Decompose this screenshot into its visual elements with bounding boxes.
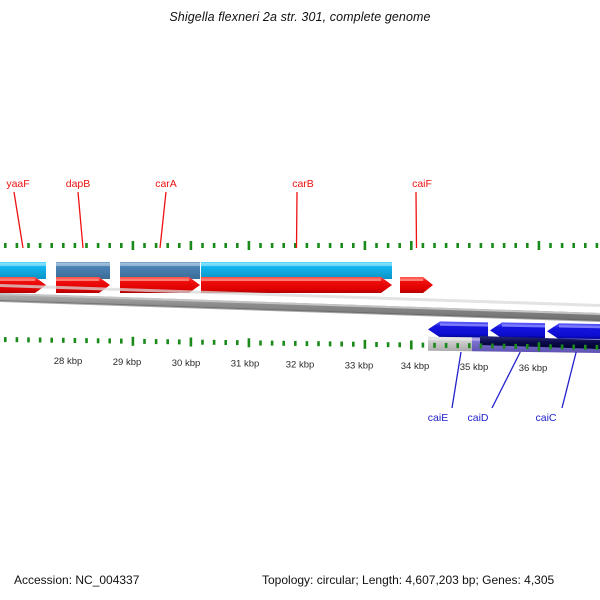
tick-mark-icon — [422, 343, 425, 348]
gene-label-dapB[interactable]: dapB — [66, 178, 91, 248]
genome-viewer[interactable]: Shigella flexneri 2a str. 301, complete … — [0, 0, 600, 600]
axis-tick-label-3: 31 kbp — [231, 359, 260, 370]
tick-mark-icon — [306, 243, 309, 248]
tick-mark-icon — [480, 343, 483, 348]
tick-mark-icon — [27, 243, 30, 248]
tick-mark-icon — [317, 243, 320, 248]
gene-leader-line — [297, 192, 298, 248]
tick-mark-icon — [514, 243, 517, 248]
cds-highlight — [0, 279, 35, 282]
tick-mark-icon — [445, 343, 448, 348]
cds-feature-caiC[interactable] — [547, 323, 600, 340]
tick-mark-icon — [259, 341, 262, 346]
tick-mark-icon — [456, 243, 459, 248]
tick-mark-icon — [329, 243, 332, 248]
tick-mark-icon — [190, 241, 193, 250]
tick-mark-icon — [143, 339, 146, 344]
axis-tick-label-6: 34 kbp — [401, 361, 430, 372]
tick-mark-icon — [155, 243, 158, 248]
tick-mark-icon — [526, 344, 529, 349]
gene-leader-line — [78, 192, 83, 248]
accession-text: Accession: NC_004337 — [14, 573, 139, 587]
axis-tick-label-2: 30 kbp — [172, 358, 201, 369]
genome-stats-text: Topology: circular; Length: 4,607,203 bp… — [262, 573, 554, 587]
tick-mark-icon — [398, 342, 401, 347]
gene-label-yaaF[interactable]: yaaF — [6, 178, 29, 248]
gene-label-carA[interactable]: carA — [155, 178, 177, 248]
tick-mark-icon — [50, 243, 53, 248]
tick-mark-icon — [271, 341, 274, 346]
tick-mark-icon — [364, 241, 367, 250]
mrna-feature-dapB[interactable] — [56, 262, 110, 279]
tick-mark-icon — [352, 243, 355, 248]
tick-mark-icon — [16, 337, 19, 342]
tick-mark-icon — [503, 344, 506, 349]
tick-mark-icon — [433, 343, 436, 348]
tick-mark-icon — [224, 243, 227, 248]
tick-mark-icon — [4, 243, 7, 248]
tick-mark-icon — [538, 342, 541, 351]
tick-mark-icon — [236, 243, 239, 248]
axis-tick-labels: 28 kbp29 kbp30 kbp31 kbp32 kbp33 kbp34 k… — [54, 356, 548, 374]
forward-gene-labels[interactable]: yaaFdapBcarAcarBcaiF — [6, 178, 432, 248]
gene-label-carB[interactable]: carB — [292, 178, 314, 248]
tick-mark-icon — [491, 243, 494, 248]
forward-mrna-track[interactable] — [0, 262, 392, 279]
tick-mark-icon — [271, 243, 274, 248]
cds-highlight — [120, 279, 189, 282]
cds-feature-carB[interactable] — [201, 277, 392, 293]
tick-mark-icon — [120, 243, 123, 248]
tick-mark-icon — [120, 339, 123, 344]
tick-mark-icon — [422, 243, 425, 248]
gene-leader-line — [14, 192, 23, 248]
tick-mark-icon — [538, 241, 541, 250]
tick-mark-icon — [132, 241, 135, 250]
top-tick-ruler — [4, 241, 598, 250]
mrna-highlight — [56, 263, 110, 266]
gene-label-text[interactable]: carB — [292, 178, 314, 190]
tick-mark-icon — [39, 338, 42, 343]
gene-leader-line — [160, 192, 166, 248]
gene-label-text[interactable]: caiE — [428, 412, 448, 424]
tick-mark-icon — [549, 243, 552, 248]
tick-mark-icon — [317, 341, 320, 346]
tick-mark-icon — [108, 338, 111, 343]
tick-mark-icon — [62, 243, 65, 248]
tick-mark-icon — [584, 345, 587, 350]
gene-leader-line — [452, 352, 461, 408]
tick-mark-icon — [74, 338, 77, 343]
mrna-highlight — [120, 263, 200, 266]
tick-mark-icon — [340, 342, 343, 347]
tick-mark-icon — [364, 340, 367, 349]
gene-label-text[interactable]: caiF — [412, 178, 432, 190]
tick-mark-icon — [306, 341, 309, 346]
tick-mark-icon — [74, 243, 77, 248]
tick-mark-icon — [16, 243, 19, 248]
tick-mark-icon — [248, 241, 251, 250]
genome-map[interactable]: 28 kbp29 kbp30 kbp31 kbp32 kbp33 kbp34 k… — [0, 0, 600, 600]
tick-mark-icon — [132, 337, 135, 346]
tick-mark-icon — [213, 340, 216, 345]
tick-mark-icon — [27, 337, 30, 342]
tick-mark-icon — [352, 342, 355, 347]
reverse-gene-labels[interactable]: caiEcaiDcaiC — [428, 352, 576, 424]
tick-mark-icon — [596, 345, 599, 350]
axis-tick-label-5: 33 kbp — [345, 360, 374, 371]
gene-leader-line — [416, 192, 417, 248]
tick-mark-icon — [190, 338, 193, 347]
tick-mark-icon — [468, 343, 471, 348]
gene-leader-line — [492, 352, 520, 408]
tick-mark-icon — [584, 243, 587, 248]
cds-highlight — [201, 279, 381, 282]
tick-mark-icon — [514, 344, 517, 349]
axis-tick-label-1: 29 kbp — [113, 357, 142, 368]
tick-mark-icon — [97, 243, 100, 248]
mrna-feature-yaaF[interactable] — [0, 262, 46, 279]
tick-mark-icon — [387, 243, 390, 248]
tick-mark-icon — [85, 243, 88, 248]
tick-mark-icon — [433, 243, 436, 248]
gene-label-text[interactable]: caiC — [535, 412, 556, 424]
tick-mark-icon — [398, 243, 401, 248]
tick-mark-icon — [166, 339, 169, 344]
gene-label-text[interactable]: carA — [155, 178, 177, 190]
tick-mark-icon — [572, 243, 575, 248]
tick-mark-icon — [375, 243, 378, 248]
gene-label-text[interactable]: yaaF — [6, 178, 29, 190]
tick-mark-icon — [294, 341, 297, 346]
axis-tick-label-4: 32 kbp — [286, 360, 315, 371]
tick-mark-icon — [282, 243, 285, 248]
tick-mark-icon — [166, 243, 169, 248]
cds-highlight — [400, 279, 423, 282]
tick-mark-icon — [201, 340, 204, 345]
forward-cds-track[interactable] — [0, 277, 433, 293]
tick-mark-icon — [213, 243, 216, 248]
gene-label-text[interactable]: dapB — [66, 178, 91, 190]
axis-tick-label-0: 28 kbp — [54, 356, 83, 367]
tick-mark-icon — [503, 243, 506, 248]
tick-mark-icon — [375, 342, 378, 347]
tick-mark-icon — [561, 345, 564, 350]
mrna-feature-carB[interactable] — [201, 262, 392, 279]
axis-tick-label-8: 36 kbp — [519, 363, 548, 374]
tick-mark-icon — [387, 342, 390, 347]
tick-mark-icon — [526, 243, 529, 248]
tick-mark-icon — [178, 243, 181, 248]
cds-feature-caiE[interactable] — [428, 321, 488, 338]
tick-mark-icon — [549, 344, 552, 349]
tick-mark-icon — [85, 338, 88, 343]
tick-mark-icon — [410, 241, 413, 250]
cds-highlight — [56, 279, 99, 282]
gene-label-caiE[interactable]: caiE — [428, 352, 461, 424]
tick-mark-icon — [97, 338, 100, 343]
tick-mark-icon — [201, 243, 204, 248]
gene-label-caiF[interactable]: caiF — [412, 178, 432, 248]
tick-mark-icon — [491, 344, 494, 349]
tick-mark-icon — [224, 340, 227, 345]
tick-mark-icon — [340, 243, 343, 248]
mrna-highlight — [201, 263, 392, 266]
tick-mark-icon — [4, 337, 7, 342]
tick-mark-icon — [62, 338, 65, 343]
tick-mark-icon — [456, 343, 459, 348]
tick-mark-icon — [50, 338, 53, 343]
tick-mark-icon — [445, 243, 448, 248]
gene-label-text[interactable]: caiD — [467, 412, 488, 424]
tick-mark-icon — [143, 243, 146, 248]
tick-mark-icon — [39, 243, 42, 248]
axis-tick-label-7: 35 kbp — [460, 362, 489, 373]
tick-mark-icon — [236, 340, 239, 345]
gene-leader-line — [562, 352, 576, 408]
tick-mark-icon — [480, 243, 483, 248]
cds-feature-dapB[interactable] — [56, 277, 110, 293]
tick-mark-icon — [596, 243, 599, 248]
cds-feature-caiF[interactable] — [400, 277, 433, 293]
tick-mark-icon — [561, 243, 564, 248]
tick-mark-icon — [178, 339, 181, 344]
tick-mark-icon — [248, 338, 251, 347]
tick-mark-icon — [282, 341, 285, 346]
tick-mark-icon — [572, 345, 575, 350]
tick-mark-icon — [468, 243, 471, 248]
mrna-highlight — [0, 263, 46, 266]
tick-mark-icon — [155, 339, 158, 344]
tick-mark-icon — [410, 341, 413, 350]
tick-mark-icon — [108, 243, 111, 248]
tick-mark-icon — [329, 341, 332, 346]
tick-mark-icon — [259, 243, 262, 248]
mrna-feature-carA[interactable] — [120, 262, 200, 279]
